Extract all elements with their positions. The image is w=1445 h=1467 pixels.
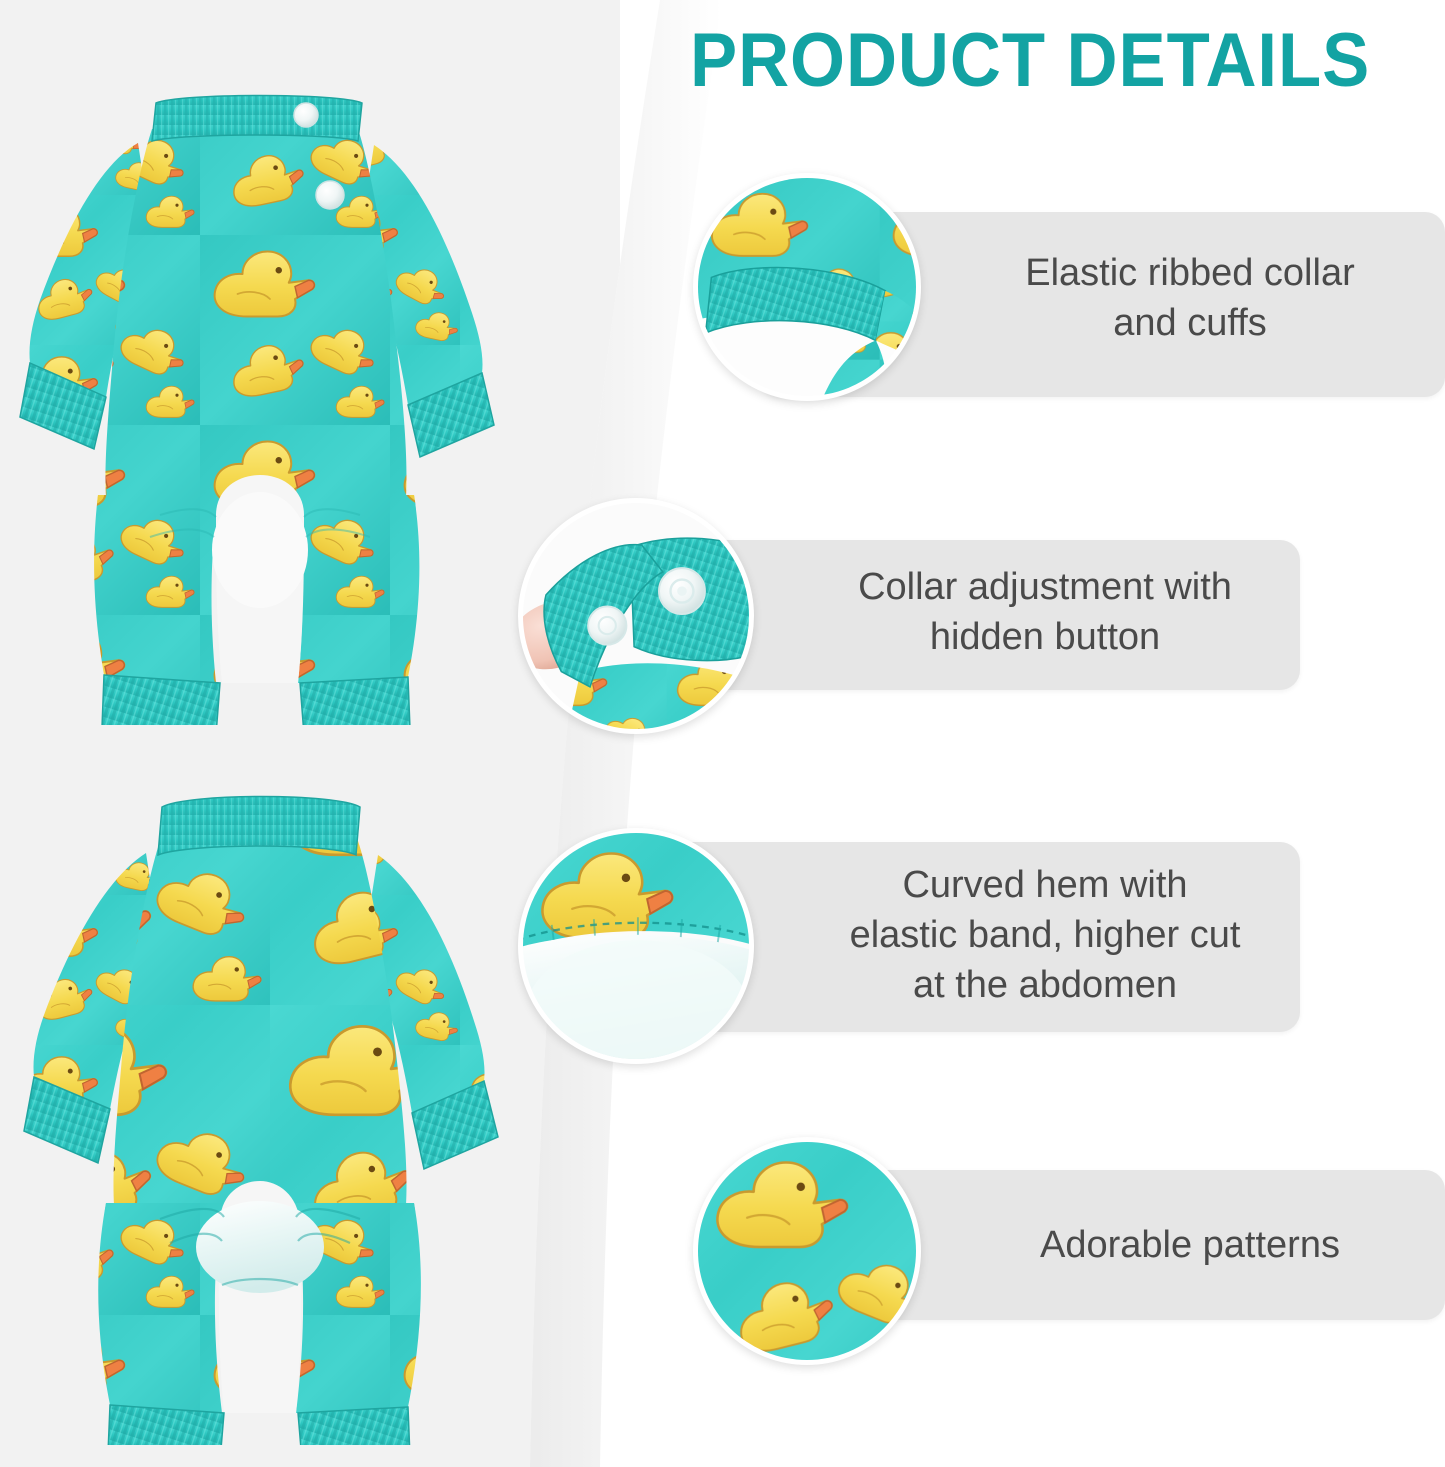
page-title: PRODUCT DETAILS <box>690 22 1389 100</box>
snap-button-left <box>588 606 626 644</box>
snap-button <box>294 103 318 127</box>
duck-pattern-closeup <box>693 1137 921 1365</box>
ribbed-cuff-closeup <box>693 173 921 401</box>
feature-label-2: Collar adjustment with hidden button <box>790 562 1300 662</box>
pajama-front-body <box>20 96 494 726</box>
snap-button-right <box>659 568 705 614</box>
product-details-infographic: PRODUCT DETAILS <box>0 0 1445 1467</box>
hidden-button-closeup <box>518 498 754 734</box>
feature-label-4: Adorable patterns <box>935 1220 1445 1270</box>
curved-hem-closeup <box>518 828 754 1064</box>
pajama-back-body <box>24 797 498 1446</box>
feature-label-3: Curved hem with elastic band, higher cut… <box>790 860 1300 1010</box>
product-photo-front-view <box>10 45 510 725</box>
product-photo-back-view <box>10 745 510 1445</box>
feature-label-1: Elastic ribbed collar and cuffs <box>935 248 1445 348</box>
